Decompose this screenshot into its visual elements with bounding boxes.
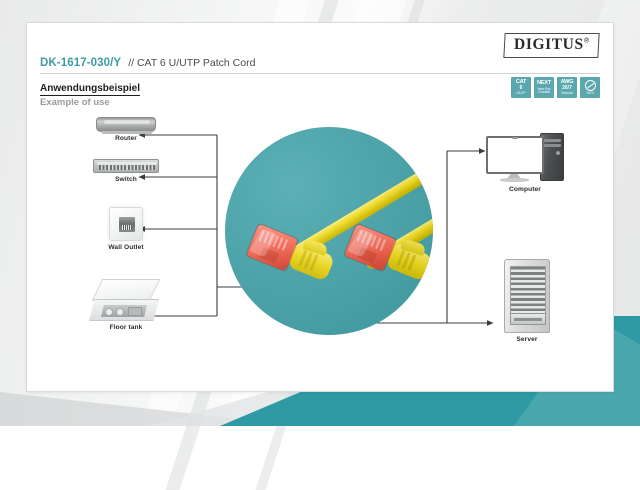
device-floor-tank: Floor tank: [79, 279, 173, 331]
product-header: DK-1617-030/Y // CAT 6 U/UTP Patch Cord: [40, 57, 600, 74]
server-icon: [504, 259, 550, 333]
switch-ports: [99, 165, 155, 170]
rj45-latch-notch: [259, 247, 279, 264]
product-code: DK-1617-030/Y: [40, 57, 121, 69]
device-label: Floor tank: [79, 324, 173, 331]
prohibition-circle-icon: [585, 80, 596, 91]
rj45-connector-right: [338, 215, 433, 292]
digitus-logo: DIGITUS®: [504, 33, 600, 58]
product-hero-circle: [225, 127, 433, 335]
badge-line-1: NEXT: [537, 81, 551, 87]
badge-line-3: U/UTP: [516, 92, 525, 95]
floor-tank-icon: [89, 279, 163, 321]
certification-badges: CAT 6 U/UTP NEXT Near End Crosstalk AWG …: [511, 77, 600, 98]
badge-line-3: Near End Crosstalk: [534, 88, 554, 94]
server-slats: [510, 266, 546, 314]
device-label: Switch: [85, 176, 167, 183]
switch-icon: [93, 159, 159, 173]
boot-latch-guard: [400, 238, 426, 256]
digitus-logo-text: DIGITUS: [514, 36, 584, 54]
page-title-english: Example of use: [40, 97, 110, 108]
page-title-german: Anwendungsbeispiel: [40, 83, 140, 96]
next-badge: NEXT Near End Crosstalk: [534, 77, 554, 98]
plug-highlight: [249, 228, 277, 257]
router-icon: [96, 117, 156, 132]
cable-boot: [288, 242, 335, 282]
device-label: Server: [497, 336, 557, 343]
cable-boot: [386, 242, 433, 282]
device-computer: Computer: [479, 133, 571, 193]
device-label: Wall Outlet: [92, 244, 160, 251]
rj45-latch-notch: [357, 247, 377, 264]
monitor-foot: [500, 178, 529, 182]
server-drive-bay: [510, 313, 546, 325]
rj45-plug-body: [344, 224, 396, 271]
floor-tank-plate: [128, 307, 142, 316]
device-switch: Switch: [85, 159, 167, 183]
application-diagram: Router Switch Wall Outlet: [27, 111, 615, 391]
datasheet-panel: DIGITUS® DK-1617-030/Y // CAT 6 U/UTP Pa…: [26, 22, 614, 392]
registered-trademark-icon: ®: [584, 38, 590, 45]
badge-line-3: Stranded: [561, 92, 573, 95]
cat6-badge: CAT 6 U/UTP: [511, 77, 531, 98]
floor-tank-lid: [92, 279, 161, 301]
floor-tank-socket: [116, 308, 124, 316]
device-label: Router: [89, 135, 163, 142]
computer-monitor: [486, 136, 544, 174]
awg-badge: AWG 26/7 Stranded: [557, 77, 577, 98]
boot-latch-guard: [302, 238, 328, 256]
outlet-jack: [119, 217, 135, 232]
device-wall-outlet: Wall Outlet: [92, 207, 160, 251]
device-router: Router: [89, 117, 163, 142]
rj45-connector-left: [240, 215, 343, 292]
device-label: Computer: [479, 186, 571, 193]
product-name: // CAT 6 U/UTP Patch Cord: [128, 57, 255, 69]
badge-line-3: 100%: [586, 92, 594, 95]
device-server: Server: [497, 259, 557, 343]
plug-highlight: [347, 228, 375, 257]
floor-tank-socket: [105, 308, 113, 316]
halogen-free-badge: 100%: [580, 77, 600, 98]
computer-icon: [486, 133, 564, 183]
rj45-plug-body: [246, 224, 298, 271]
rj45-plug: [343, 223, 397, 273]
wall-outlet-icon: [109, 207, 143, 241]
rj45-plug: [245, 223, 299, 273]
